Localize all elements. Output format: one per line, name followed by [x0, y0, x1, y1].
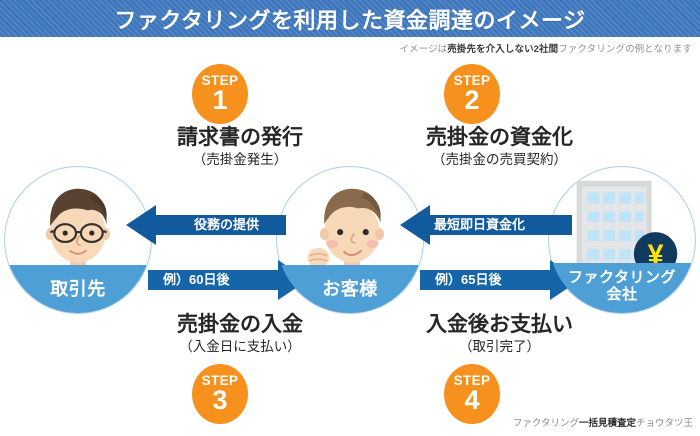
step-title-4-sub: （取引完了） [382, 338, 617, 356]
step-title-1-sub: （売掛金発生） [130, 151, 350, 169]
step-title-1: 請求書の発行 （売掛金発生） [130, 126, 350, 168]
subtitle-suffix: ファクタリングの例となります [558, 44, 692, 55]
step-title-4-main: 入金後お支払い [382, 313, 617, 337]
step-title-2: 売掛金の資金化 （売掛金の売買契約） [382, 126, 617, 168]
arrow-funding-label: 最短即日資金化 [434, 214, 525, 233]
step-title-1-main: 請求書の発行 [130, 126, 350, 150]
page-title: ファクタリングを利用した資金調達のイメージ [114, 3, 585, 35]
step-badge-4: STEP 4 [444, 364, 500, 424]
step-title-3-sub: （入金日に支払い） [130, 338, 350, 356]
footer-credit: ファクタリング一括見積査定チョウタツ王 [513, 415, 693, 429]
actor-label-line1: ファクタリング [568, 269, 676, 286]
footer-credit-prefix: ファクタリング [513, 418, 579, 429]
actor-label-line2: 会社 [606, 286, 637, 303]
subtitle-prefix: イメージは [399, 44, 447, 55]
step-badge-1-number: 1 [212, 87, 227, 114]
step-title-4: 入金後お支払い （取引完了） [382, 313, 617, 355]
actor-label-customer: お客様 [277, 265, 423, 313]
arrow-service-label: 役務の提供 [194, 214, 259, 233]
step-badge-3: STEP 3 [192, 364, 248, 424]
step-badge-1: STEP 1 [192, 64, 248, 124]
footer-credit-emphasis: 一括見積査定 [579, 418, 636, 429]
step-badge-4-number: 4 [464, 387, 479, 414]
step-title-2-main: 売掛金の資金化 [382, 126, 617, 150]
arrow-payment-65-label: 例）65日後 [435, 269, 501, 288]
infographic-canvas: ファクタリングを利用した資金調達のイメージ イメージは売掛先を介入しない2社間フ… [0, 0, 700, 436]
step-badge-2: STEP 2 [444, 64, 500, 124]
step-badge-3-number: 3 [212, 387, 227, 414]
step-badge-2-number: 2 [464, 87, 479, 114]
header-bar: ファクタリングを利用した資金調達のイメージ [0, 0, 700, 37]
step-title-3-main: 売掛金の入金 [130, 313, 350, 337]
step-title-2-sub: （売掛金の売買契約） [382, 151, 617, 169]
subtitle-note: イメージは売掛先を介入しない2社間ファクタリングの例となります [399, 41, 692, 55]
subtitle-emphasis: 売掛先を介入しない2社間 [447, 44, 558, 55]
footer-credit-suffix: チョウタツ王 [636, 418, 693, 429]
arrow-payment-60-label: 例）60日後 [163, 269, 229, 288]
step-title-3: 売掛金の入金 （入金日に支払い） [130, 313, 350, 355]
actor-label-factoring-company: ファクタリング 会社 [549, 263, 695, 313]
actor-label-client: 取引先 [5, 265, 151, 313]
